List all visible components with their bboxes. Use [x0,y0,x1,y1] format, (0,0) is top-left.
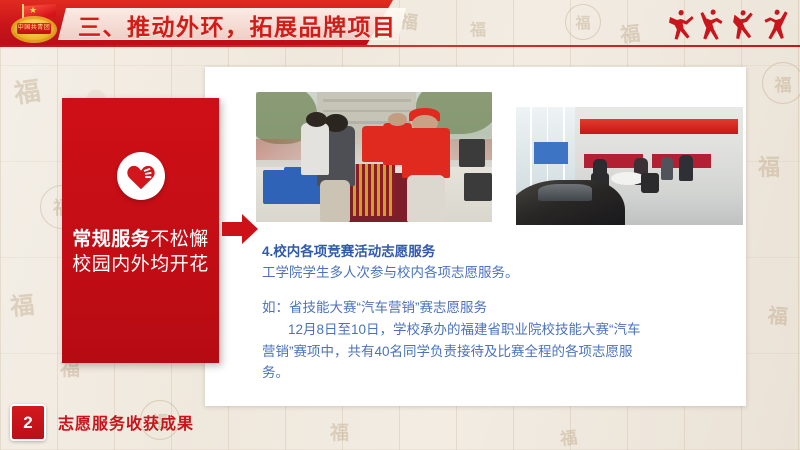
highlight-panel: 常规服务不松懈 校园内外均开花 [62,98,219,363]
body-subheading: 工学院学生多人次参与校内各项志愿服务。 [262,262,732,284]
photo-volunteer-vest [362,126,386,162]
body-paragraph-line: 12月8日至10日，学校承办的福建省职业院校技能大赛“汽车 [262,319,732,341]
body-paragraph-line: 营销”赛项中，共有40名同学负责接待及比赛全程的各项志愿服 [262,341,732,363]
photo-car [516,180,625,225]
photo-person-head [388,113,407,126]
dancer-figure-icon [699,8,725,44]
photo-award-ceremony [256,92,492,222]
photo-person-head [306,112,327,128]
photo-car-windshield [538,184,592,201]
communist-youth-league-emblem-icon: ★ 中国共青团 [7,4,61,44]
page-title: 三、推动外环，拓展品牌项目 [78,9,398,40]
body-paragraph-line: 如：省技能大赛“汽车营销”赛志愿服务 [262,297,732,319]
heart-hand-glyph [125,161,157,191]
footer-section-label: 志愿服务收获成果 [58,410,194,434]
presentation-slide: 福 福 福 福 福 福 福 福 福 福 福 福 福 福 福 福 三、推动外环，拓… [0,0,800,450]
body-paragraph-line: 务。 [262,362,732,384]
body-text-block: 4.校内各项竞赛活动志愿服务 工学院学生多人次参与校内各项志愿服务。 如：省技能… [262,242,732,384]
dancer-figure-icon [762,8,788,44]
photo-volunteer-vest [383,123,411,165]
photo-chair [263,170,287,204]
highlight-line-2: 校园内外均开花 [62,253,219,278]
photo-speaker [464,173,492,202]
highlight-line-1-rest: 不松懈 [150,229,209,250]
emblem-star-icon: ★ [29,6,37,15]
photo-speaker [459,139,485,168]
photo-person-legs [407,175,445,222]
dancer-figure-icon [668,8,694,44]
photo-person-legs [320,180,351,222]
highlight-panel-text: 常规服务不松懈 校园内外均开花 [62,228,219,277]
photo-display-screen [534,142,568,163]
heart-hand-icon [117,152,165,200]
body-heading: 4.校内各项竞赛活动志愿服务 [262,242,732,262]
photo-person [661,157,672,181]
dancing-figures-decoration-icon [668,4,788,44]
dancer-figure-icon [731,8,757,44]
photo-person [301,123,329,175]
photo-car-showroom-contest [516,107,743,225]
body-paragraph: 如：省技能大赛“汽车营销”赛志愿服务 12月8日至10日，学校承办的福建省职业院… [262,297,732,384]
right-arrow-icon [222,214,258,244]
photo-red-banner [580,119,739,134]
body-paragraph-line-text: 12月8日至10日，学校承办的福建省职业院校技能大赛“汽车 [288,322,641,337]
highlight-line-1: 常规服务不松懈 [62,228,219,253]
photo-chair [641,173,659,193]
photo-person [679,155,693,181]
highlight-line-1-bold: 常规服务 [72,229,150,250]
emblem-banner-label: 中国共青团 [17,23,51,34]
footer-section-number: 2 [10,404,46,441]
photo-medals [353,164,395,216]
header-divider-line [0,45,800,47]
